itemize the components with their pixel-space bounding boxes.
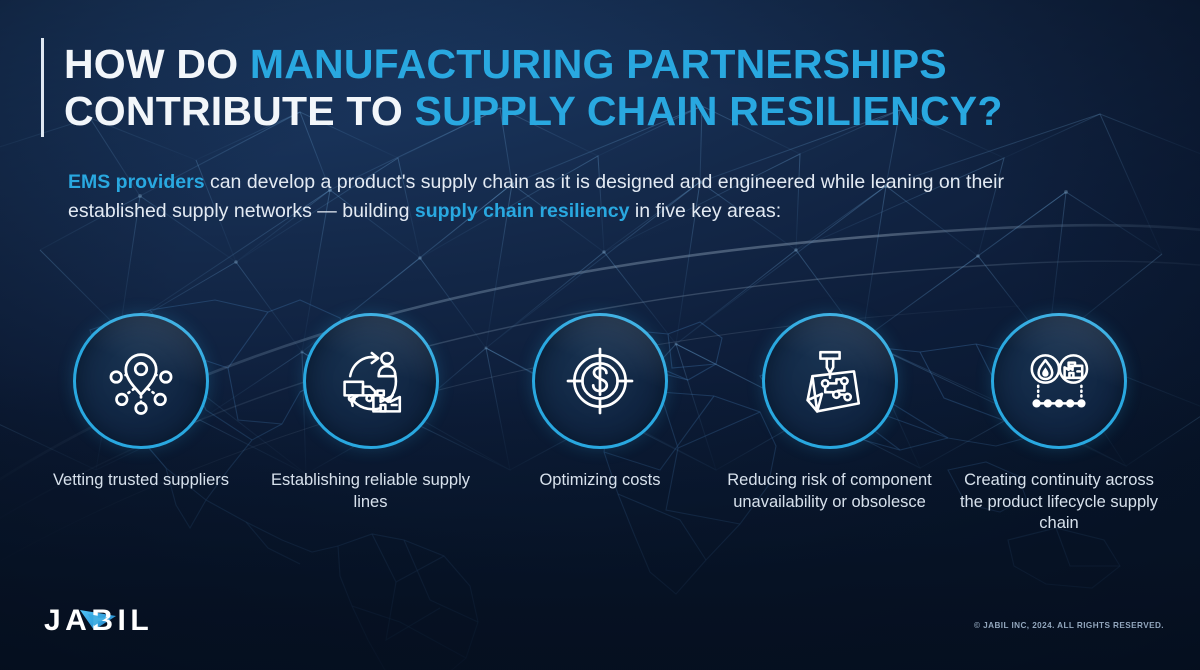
pillar-label-4: Reducing risk of component unavailabilit… xyxy=(727,470,933,513)
infographic-canvas: HOW DO MANUFACTURING PARTNERSHIPS CONTRI… xyxy=(0,0,1200,670)
title-accent-bar xyxy=(41,38,44,90)
location-pin-network-icon xyxy=(101,341,181,421)
pillar-reliable-supply-lines[interactable]: Establishing reliable supply lines xyxy=(268,313,474,535)
title-plain-1: HOW DO xyxy=(64,41,250,87)
pillar-label-1: Vetting trusted suppliers xyxy=(53,470,229,492)
icon-circle-1[interactable] xyxy=(73,313,209,449)
icon-circle-4[interactable] xyxy=(762,313,898,449)
title-accent-1: MANUFACTURING PARTNERSHIPS xyxy=(250,41,947,87)
page-title-line-1: HOW DO MANUFACTURING PARTNERSHIPS xyxy=(41,38,947,90)
target-dollar-icon xyxy=(560,341,640,421)
subtitle-highlight-resiliency: supply chain resiliency xyxy=(415,200,630,222)
subtitle-highlight-ems: EMS providers xyxy=(68,171,205,193)
pillar-label-3: Optimizing costs xyxy=(539,470,660,492)
title-accent-2: SUPPLY CHAIN RESILIENCY? xyxy=(415,88,1003,134)
pillar-label-2: Establishing reliable supply lines xyxy=(268,470,474,513)
pillar-component-risk[interactable]: Reducing risk of component unavailabilit… xyxy=(727,313,933,535)
jabil-logo-mark: JABIL xyxy=(44,600,194,640)
pillar-optimizing-costs[interactable]: Optimizing costs xyxy=(497,313,703,535)
title-plain-2: CONTRIBUTE TO xyxy=(64,88,415,134)
subtitle-paragraph: EMS providers can develop a product's su… xyxy=(68,168,1108,227)
icon-circle-5[interactable] xyxy=(991,313,1127,449)
title-text-line-2: CONTRIBUTE TO SUPPLY CHAIN RESILIENCY? xyxy=(64,91,1003,132)
copyright-notice: © JABIL INC, 2024. ALL RIGHTS RESERVED. xyxy=(974,621,1164,630)
pillar-label-5: Creating continuity across the product l… xyxy=(956,470,1162,535)
lifecycle-chain-icon xyxy=(1019,341,1099,421)
pillar-vetting-trusted-suppliers[interactable]: Vetting trusted suppliers xyxy=(38,313,244,535)
supply-cycle-truck-person-factory-icon xyxy=(331,341,411,421)
icon-circle-2[interactable] xyxy=(303,313,439,449)
title-accent-bar xyxy=(41,85,44,137)
pillar-row: Vetting trusted suppliers xyxy=(0,313,1200,535)
title-text-line-1: HOW DO MANUFACTURING PARTNERSHIPS xyxy=(64,44,947,85)
pillar-lifecycle-continuity[interactable]: Creating continuity across the product l… xyxy=(956,313,1162,535)
jabil-logo[interactable]: JABIL xyxy=(44,600,194,640)
subtitle-body-2: in five key areas: xyxy=(629,200,781,222)
page-title-line-2: CONTRIBUTE TO SUPPLY CHAIN RESILIENCY? xyxy=(41,85,1003,137)
circuit-board-pick-place-icon xyxy=(790,341,870,421)
icon-circle-3[interactable] xyxy=(532,313,668,449)
